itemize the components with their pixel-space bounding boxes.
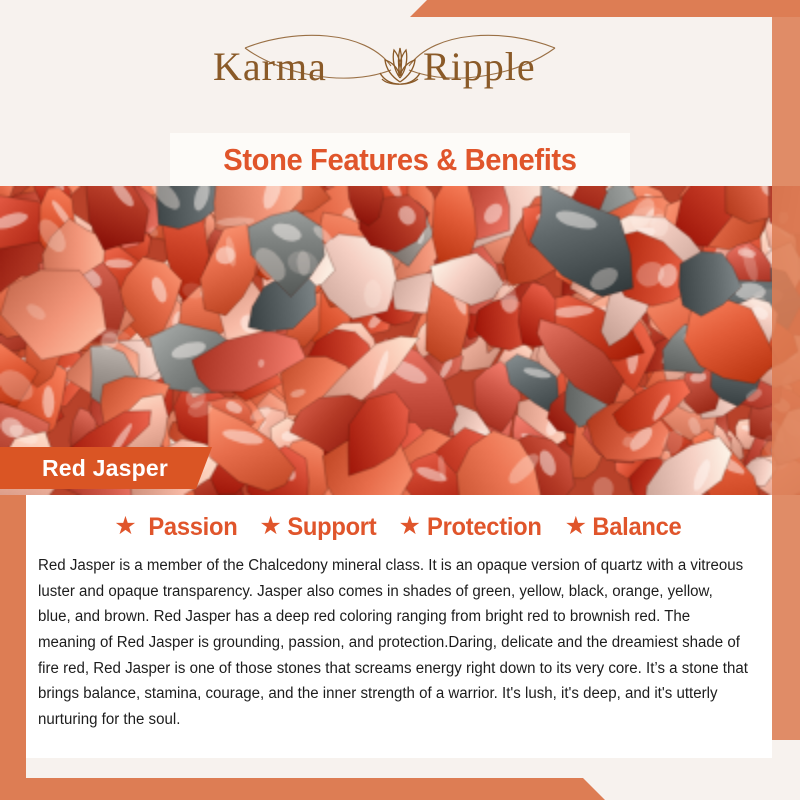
brand-name-right: Ripple xyxy=(423,44,536,89)
benefit-item-protection: ★Protection xyxy=(399,513,545,542)
brand-logo-svg: Karma Ripple xyxy=(185,26,615,110)
corner-accent-bottom-left xyxy=(0,778,605,800)
stone-description: Red Jasper is a member of the Chalcedony… xyxy=(38,553,749,733)
benefit-item-balance: ★Balance xyxy=(565,513,684,542)
star-icon: ★ xyxy=(259,514,281,539)
benefit-item-support: ★Support xyxy=(259,513,378,542)
page-header: Karma Ripple xyxy=(0,0,800,130)
lotus-flower-icon xyxy=(380,48,420,84)
hero-image: Red Jasper xyxy=(0,186,800,495)
content-panel: ★Passion★Support★Protection★Balance Red … xyxy=(26,495,772,758)
page-title: Stone Features & Benefits xyxy=(223,142,576,178)
brand-name-left: Karma xyxy=(213,44,327,89)
benefit-label: Balance xyxy=(592,513,681,542)
edge-accent-right xyxy=(772,0,800,740)
benefit-label: Support xyxy=(287,513,376,542)
benefit-label: Protection xyxy=(427,513,542,542)
stone-name-text: Red Jasper xyxy=(42,455,168,482)
benefit-label: Passion xyxy=(148,513,237,542)
star-icon: ★ xyxy=(565,514,587,539)
brand-logo: Karma Ripple xyxy=(0,26,800,110)
benefit-item-passion: ★Passion xyxy=(114,513,239,542)
product-infographic-page: Karma Ripple Stone Features & Benefits R… xyxy=(0,0,800,800)
star-icon: ★ xyxy=(399,514,421,539)
benefits-list: ★Passion★Support★Protection★Balance xyxy=(26,495,772,542)
star-icon: ★ xyxy=(114,514,136,539)
stone-name-badge: Red Jasper xyxy=(0,447,212,489)
edge-accent-left xyxy=(0,495,26,800)
section-title-banner: Stone Features & Benefits xyxy=(170,133,630,186)
corner-accent-top-right xyxy=(410,0,800,17)
